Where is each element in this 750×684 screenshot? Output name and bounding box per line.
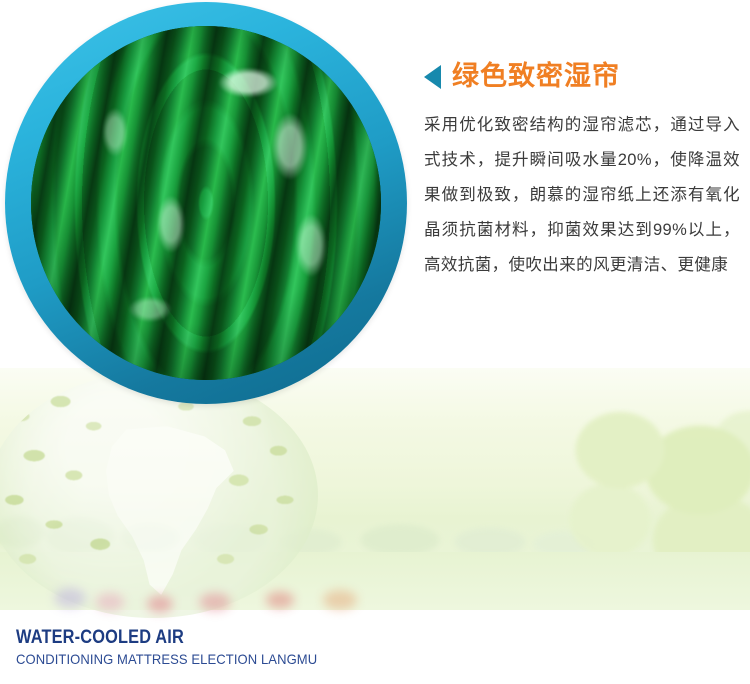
feature-headline: 绿色致密湿帘 bbox=[452, 62, 620, 92]
feature-description: 采用优化致密结构的湿帘滤芯，通过导入式技术，提升瞬间吸水量20%，使降温效果做到… bbox=[424, 108, 740, 283]
cooling-pad-circle-photo bbox=[5, 2, 407, 404]
feature-text-block: 绿色致密湿帘 采用优化致密结构的湿帘滤芯，通过导入式技术，提升瞬间吸水量20%，… bbox=[424, 62, 740, 283]
blurred-foreground-objects bbox=[40, 580, 380, 614]
cooling-pad-vignette bbox=[31, 26, 381, 380]
product-detail-banner: 绿色致密湿帘 采用优化致密结构的湿帘滤芯，通过导入式技术，提升瞬间吸水量20%，… bbox=[0, 0, 750, 684]
brand-title: WATER-COOLED AIR bbox=[16, 628, 446, 648]
headline-row: 绿色致密湿帘 bbox=[424, 62, 740, 92]
left-triangle-icon bbox=[424, 65, 441, 89]
cooling-pad-inner-photo bbox=[31, 26, 381, 380]
brand-subtitle: CONDITIONING MATTRESS ELECTION LANGMU bbox=[16, 651, 481, 667]
brand-lockup: WATER-COOLED AIR CONDITIONING MATTRESS E… bbox=[16, 628, 516, 667]
